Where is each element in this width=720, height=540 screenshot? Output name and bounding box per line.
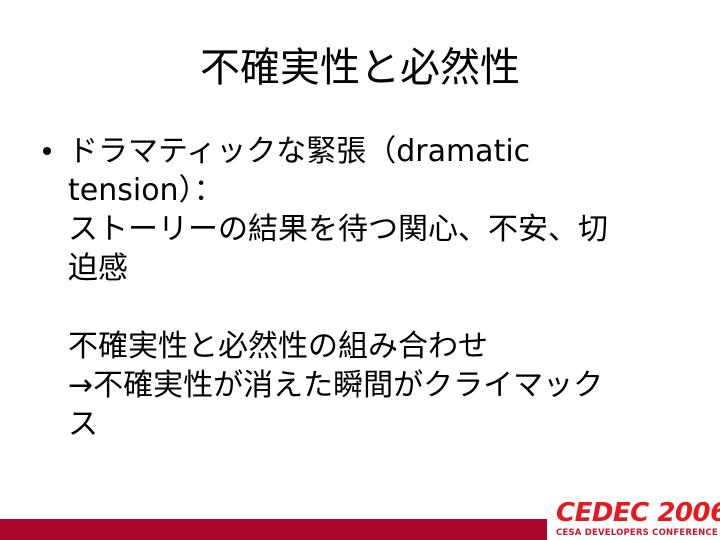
cedec-logo-wordmark: CEDEC 2006 [556,500,720,526]
footer-accent-bar [0,519,547,540]
body-line-4-text: 迫感 [68,251,128,286]
body-line-2-text: tension）： [68,173,224,208]
body-line-7: ス [68,405,672,444]
body-line-2: tension）： [68,171,672,210]
body-line-7-text: ス [68,407,98,442]
bullet-list-item: ドラマティックな緊張（dramatic tension）： ストーリーの結果を待… [32,132,672,444]
body-line-4: 迫感 [68,249,672,288]
body-paragraph-gap [68,288,672,327]
body-line-1: ドラマティックな緊張（dramatic [68,132,672,171]
cedec-logo-tagline: CESA DEVELOPERS CONFERENCE 2006 [556,527,720,539]
body-line-3-text: ストーリーの結果を待つ関心、不安、切 [68,212,608,247]
page-title: 不確実性と必然性 [0,44,720,92]
presentation-slide: 不確実性と必然性 ドラマティックな緊張（dramatic tension）： ス… [0,0,720,540]
body-line-1-text: ドラマティックな緊張（dramatic [68,134,530,169]
body-line-3: ストーリーの結果を待つ関心、不安、切 [68,210,672,249]
slide-body: ドラマティックな緊張（dramatic tension）： ストーリーの結果を待… [32,132,672,444]
body-line-5-text: 不確実性と必然性の組み合わせ [68,329,488,364]
bullet-dot-icon [43,147,51,155]
body-line-6-text: →不確実性が消えた瞬間がクライマック [68,368,603,403]
cedec-logo: CEDEC 2006 CESA DEVELOPERS CONFERENCE 20… [556,500,720,540]
body-line-5: 不確実性と必然性の組み合わせ [68,327,672,366]
body-line-6: →不確実性が消えた瞬間がクライマック [68,366,672,405]
